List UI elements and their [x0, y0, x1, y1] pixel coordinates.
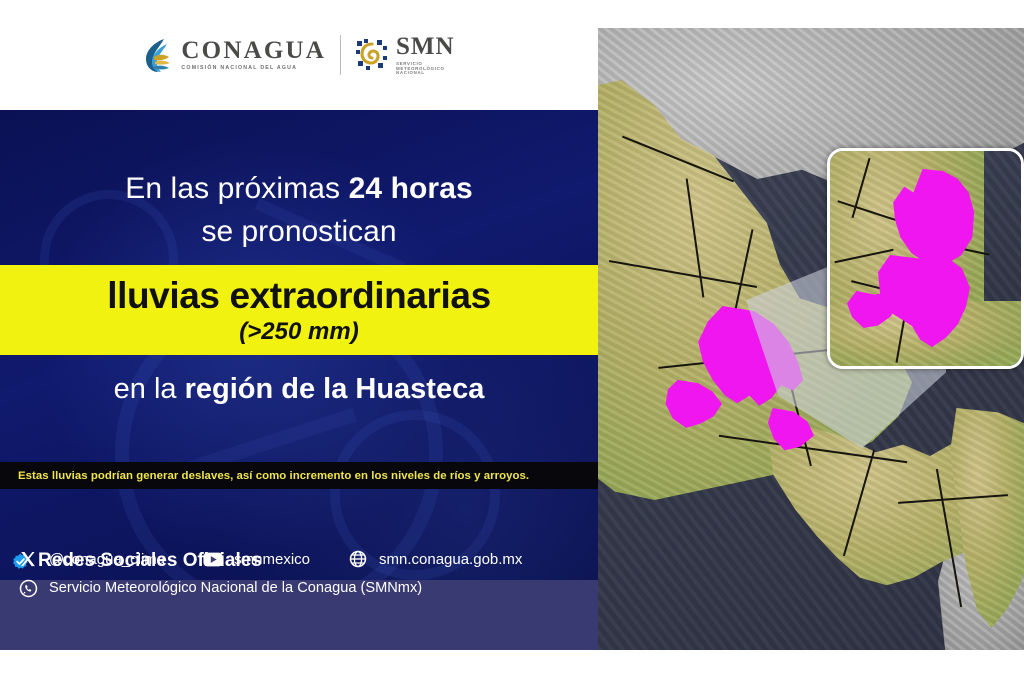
- social-account-x[interactable]: @conagua_clima: [18, 549, 165, 569]
- smn-spiral-logo: [355, 38, 389, 72]
- whatsapp-icon: [18, 578, 38, 598]
- youtube-icon: [203, 549, 223, 569]
- poster-body: En las próximas 24 horas se pronostican …: [0, 110, 598, 650]
- globe-icon: [348, 549, 368, 569]
- conagua-logo-lockup: CONAGUA COMISIÓN NACIONAL DEL AGUA: [143, 37, 326, 73]
- social-handle-website: smn.conagua.gob.mx: [379, 551, 522, 568]
- social-handle-youtube: smnmexico: [234, 551, 310, 568]
- social-media-section: Redes Sociales Oficiales @conagua_clima: [0, 540, 598, 650]
- conagua-wordmark: CONAGUA: [181, 38, 326, 63]
- social-account-website[interactable]: smn.conagua.gob.mx: [348, 549, 522, 569]
- conagua-eagle-water-logo: [143, 37, 173, 73]
- social-accounts-row-1: @conagua_clima smnmexico: [18, 549, 522, 569]
- affected-region: región de la Huasteca: [185, 373, 485, 405]
- forecast-line-1-prefix: En las próximas: [125, 172, 348, 205]
- rainfall-amount-label: (>250 mm): [239, 320, 358, 344]
- forecast-duration: 24 horas: [349, 172, 473, 205]
- vertical-divider: [340, 35, 341, 75]
- smn-logo-lockup: SMN SERVICIO METEOROLÓGICO NACIONAL: [355, 34, 455, 75]
- forecast-line-2: se pronostican: [0, 215, 598, 249]
- smn-subtitle: SERVICIO METEOROLÓGICO NACIONAL: [396, 62, 455, 75]
- x-twitter-icon: [18, 549, 38, 569]
- poster-header-logos: CONAGUA COMISIÓN NACIONAL DEL AGUA: [0, 0, 598, 110]
- forecast-line-1: En las próximas 24 horas: [0, 172, 598, 206]
- mexico-rainfall-forecast-map[interactable]: [598, 28, 1024, 650]
- smn-subtitle-line3: NACIONAL: [396, 71, 455, 75]
- hazard-warning-text: Estas lluvias podrían generar deslaves, …: [0, 470, 529, 482]
- forecast-line-3-prefix: en la: [114, 373, 185, 405]
- smn-wordmark: SMN: [396, 34, 455, 59]
- conagua-subtitle: COMISIÓN NACIONAL DEL AGUA: [181, 66, 326, 71]
- social-account-youtube[interactable]: smnmexico: [203, 549, 310, 569]
- huasteca-zoom-inset[interactable]: [827, 148, 1024, 369]
- rainfall-type-label: lluvias extraordinarias: [107, 277, 491, 314]
- hazard-warning-strip: Estas lluvias podrían generar deslaves, …: [0, 462, 598, 489]
- social-handle-x: @conagua_clima: [49, 551, 165, 568]
- forecast-poster: CONAGUA COMISIÓN NACIONAL DEL AGUA: [0, 0, 598, 650]
- social-handle-whatsapp: Servicio Meteorológico Nacional de la Co…: [49, 580, 422, 596]
- rainfall-highlight-banner: lluvias extraordinarias (>250 mm): [0, 265, 598, 355]
- social-accounts-row-2[interactable]: Servicio Meteorológico Nacional de la Co…: [18, 578, 422, 598]
- screenshot-root: CONAGUA COMISIÓN NACIONAL DEL AGUA: [0, 0, 1024, 678]
- forecast-line-3: en la región de la Huasteca: [0, 373, 598, 406]
